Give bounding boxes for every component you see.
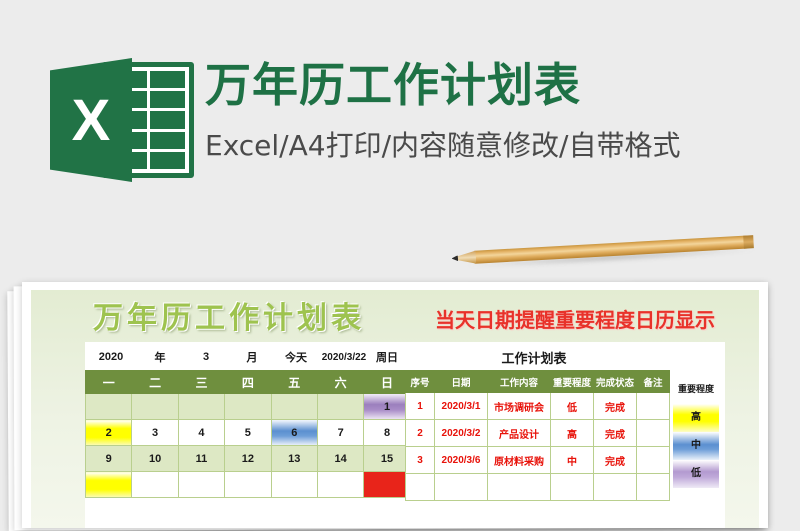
calendar-week-row: 9 10 11 12 13 14 15 xyxy=(86,446,411,472)
calendar-day-cell[interactable]: 4 xyxy=(178,420,224,446)
cell-no[interactable]: 3 xyxy=(406,447,435,474)
table-row[interactable] xyxy=(406,474,670,501)
importance-legend: 重要程度 高 中 低 xyxy=(673,374,719,488)
calendar-weekday-sat: 六 xyxy=(317,371,363,394)
cell-status[interactable] xyxy=(594,474,637,501)
cell-note[interactable] xyxy=(637,474,670,501)
calendar-day-cell[interactable]: 1 xyxy=(364,394,410,420)
cell-date[interactable]: 2020/3/6 xyxy=(435,447,488,474)
calendar-day-cell[interactable] xyxy=(132,394,178,420)
cell-no[interactable]: 2 xyxy=(406,420,435,447)
calendar-day-cell[interactable] xyxy=(271,394,317,420)
calendar-day-cell[interactable]: 12 xyxy=(225,446,271,472)
calendar-day-cell[interactable] xyxy=(178,394,224,420)
calendar-day-cell[interactable]: 3 xyxy=(132,420,178,446)
cell-date[interactable]: 2020/3/2 xyxy=(435,420,488,447)
legend-item-high: 高 xyxy=(673,404,719,432)
calendar-day-cell[interactable]: 15 xyxy=(364,446,410,472)
calendar-weekday: 周日 xyxy=(371,349,403,365)
calendar-day-cell[interactable] xyxy=(178,472,224,498)
cell-date[interactable] xyxy=(435,474,488,501)
calendar-weekday-header-row: 一 二 三 四 五 六 日 xyxy=(86,371,411,394)
column-header-task: 工作内容 xyxy=(488,371,551,393)
calendar-today-date: 2020/3/22 xyxy=(317,352,371,363)
table-row[interactable]: 3 2020/3/6 原材料采购 中 完成 xyxy=(406,447,670,474)
calendar-day-cell[interactable]: 10 xyxy=(132,446,178,472)
calendar-week-row: 2 3 4 5 6 7 8 xyxy=(86,420,411,446)
cell-importance[interactable]: 中 xyxy=(551,447,594,474)
calendar-day-cell[interactable]: 5 xyxy=(225,420,271,446)
cell-task[interactable]: 市场调研会 xyxy=(488,393,551,420)
calendar-weekday-fri: 五 xyxy=(271,371,317,394)
calendar-weekday-sun: 日 xyxy=(364,371,410,394)
worksheet-area[interactable]: 2020 年 3 月 今天 2020/3/22 周日 一 二 三 四 xyxy=(85,342,725,528)
calendar-weekday-mon: 一 xyxy=(86,371,132,394)
calendar-day-cell[interactable] xyxy=(317,394,363,420)
calendar-day-cell[interactable] xyxy=(86,472,132,498)
cell-note[interactable] xyxy=(637,420,670,447)
work-plan-header-row: 序号 日期 工作内容 重要程度 完成状态 备注 xyxy=(406,371,670,393)
calendar-month-label: 月 xyxy=(229,349,275,365)
calendar-panel[interactable]: 2020 年 3 月 今天 2020/3/22 周日 一 二 三 四 xyxy=(85,342,403,528)
document-subtitle: 当天日期提醒重要程度日历显示 xyxy=(435,310,715,330)
calendar-weekday-thu: 四 xyxy=(225,371,271,394)
cell-task[interactable] xyxy=(488,474,551,501)
work-plan-panel[interactable]: 工作计划表 序号 日期 工作内容 重要程度 完成状态 备注 xyxy=(405,342,725,528)
document-title: 万年历工作计划表 xyxy=(93,304,365,334)
cell-status[interactable]: 完成 xyxy=(594,447,637,474)
cell-status[interactable]: 完成 xyxy=(594,393,637,420)
calendar-day-cell[interactable]: 7 xyxy=(317,420,363,446)
calendar-day-cell[interactable] xyxy=(225,472,271,498)
calendar-day-cell[interactable] xyxy=(271,472,317,498)
legend-item-medium: 中 xyxy=(673,432,719,460)
calendar-day-cell[interactable]: 9 xyxy=(86,446,132,472)
calendar-day-cell[interactable] xyxy=(364,472,410,498)
calendar-year-value[interactable]: 2020 xyxy=(85,351,137,363)
calendar-day-cell[interactable] xyxy=(132,472,178,498)
excel-document-preview[interactable]: 万年历工作计划表 当天日期提醒重要程度日历显示 2020 年 3 月 今天 20… xyxy=(22,282,768,528)
column-header-note: 备注 xyxy=(637,371,670,393)
cell-note[interactable] xyxy=(637,447,670,474)
legend-item-low: 低 xyxy=(673,460,719,488)
legend-title: 重要程度 xyxy=(673,374,719,404)
cell-importance[interactable]: 低 xyxy=(551,393,594,420)
cell-importance[interactable] xyxy=(551,474,594,501)
cell-task[interactable]: 产品设计 xyxy=(488,420,551,447)
cell-task[interactable]: 原材料采购 xyxy=(488,447,551,474)
calendar-meta-row: 2020 年 3 月 今天 2020/3/22 周日 xyxy=(85,344,403,370)
calendar-week-row xyxy=(86,472,411,498)
cell-no[interactable] xyxy=(406,474,435,501)
column-header-status: 完成状态 xyxy=(594,371,637,393)
calendar-day-cell[interactable] xyxy=(317,472,363,498)
calendar-day-cell[interactable]: 13 xyxy=(271,446,317,472)
calendar-weekday-tue: 二 xyxy=(132,371,178,394)
work-plan-table[interactable]: 序号 日期 工作内容 重要程度 完成状态 备注 1 2020/3/1 市场调研会 xyxy=(405,370,670,501)
calendar-year-label: 年 xyxy=(137,349,183,365)
calendar-day-cell[interactable]: 11 xyxy=(178,446,224,472)
calendar-day-cell[interactable] xyxy=(225,394,271,420)
calendar-day-cell[interactable] xyxy=(86,394,132,420)
column-header-date: 日期 xyxy=(435,371,488,393)
calendar-today-label: 今天 xyxy=(275,349,317,365)
cell-status[interactable]: 完成 xyxy=(594,420,637,447)
cell-note[interactable] xyxy=(637,393,670,420)
cell-importance[interactable]: 高 xyxy=(551,420,594,447)
calendar-day-cell[interactable]: 6 xyxy=(271,420,317,446)
calendar-day-cell[interactable]: 2 xyxy=(86,420,132,446)
cell-no[interactable]: 1 xyxy=(406,393,435,420)
work-plan-title: 工作计划表 xyxy=(405,348,663,367)
column-header-no: 序号 xyxy=(406,371,435,393)
column-header-importance: 重要程度 xyxy=(551,371,594,393)
table-row[interactable]: 2 2020/3/2 产品设计 高 完成 xyxy=(406,420,670,447)
table-row[interactable]: 1 2020/3/1 市场调研会 低 完成 xyxy=(406,393,670,420)
calendar-grid[interactable]: 一 二 三 四 五 六 日 xyxy=(85,370,411,498)
calendar-month-value[interactable]: 3 xyxy=(183,351,229,363)
calendar-week-row: 1 xyxy=(86,394,411,420)
calendar-day-cell[interactable]: 8 xyxy=(364,420,410,446)
document-canvas: 万年历工作计划表 当天日期提醒重要程度日历显示 2020 年 3 月 今天 20… xyxy=(31,290,759,528)
calendar-day-cell[interactable]: 14 xyxy=(317,446,363,472)
cell-date[interactable]: 2020/3/1 xyxy=(435,393,488,420)
calendar-weekday-wed: 三 xyxy=(178,371,224,394)
